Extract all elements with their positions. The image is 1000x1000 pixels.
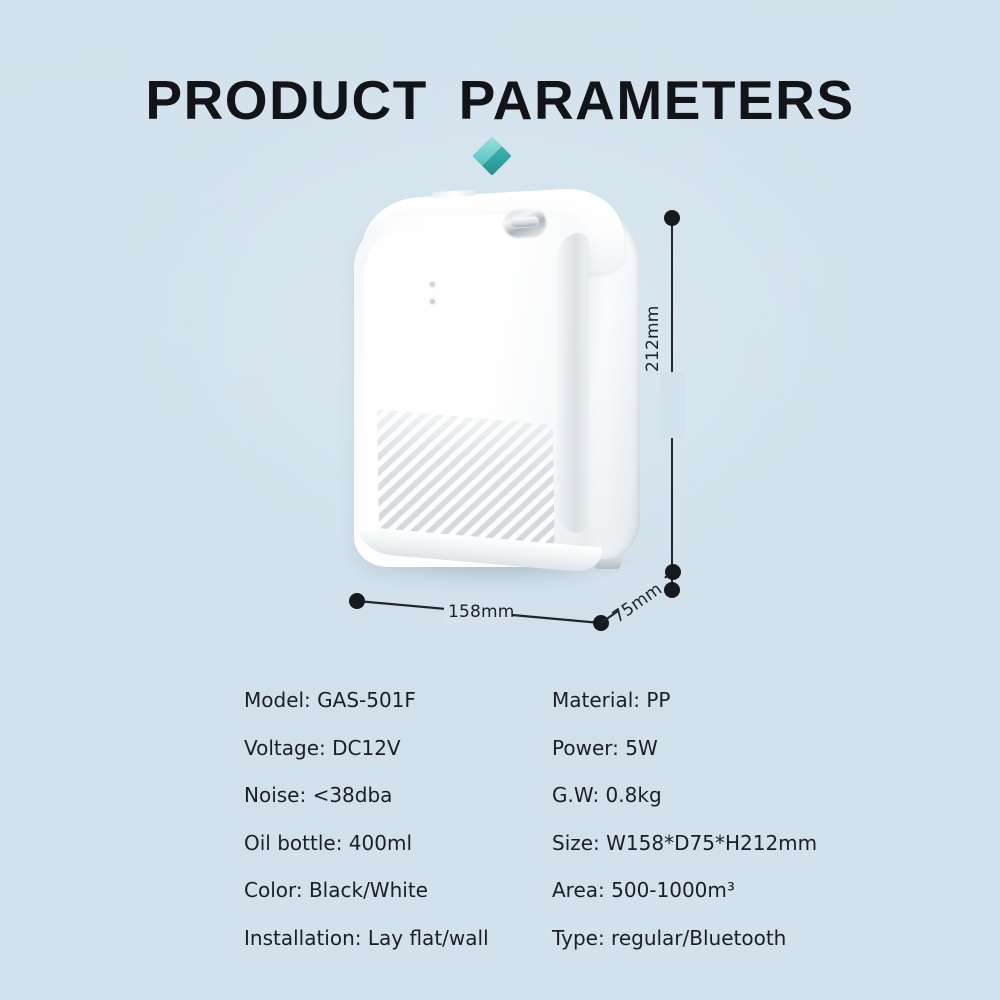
- product-front-seam: [555, 233, 589, 533]
- teal-diamond-icon: [472, 136, 512, 176]
- led-indicator-bottom: [430, 299, 435, 304]
- spec-model: Model: GAS-501F: [244, 688, 416, 712]
- spec-size: Size: W158*D75*H212mm: [552, 831, 817, 855]
- page-title: PRODUCT PARAMETERS: [0, 68, 1000, 132]
- spec-noise: Noise: <38dba: [244, 783, 392, 807]
- spec-material: Material: PP: [552, 688, 670, 712]
- spec-row: Oil bottle: 400ml Size: W158*D75*H212mm: [244, 831, 804, 879]
- spec-area: Area: 500-1000m³: [552, 878, 735, 902]
- spec-row: Installation: Lay flat/wall Type: regula…: [244, 926, 804, 974]
- spec-gross-weight: G.W: 0.8kg: [552, 783, 662, 807]
- spec-type: Type: regular/Bluetooth: [552, 926, 786, 950]
- dimension-label-height: 212mm: [643, 305, 663, 372]
- spec-color: Color: Black/White: [244, 878, 428, 902]
- spec-power: Power: 5W: [552, 736, 658, 760]
- product-parameters-page: PRODUCT PARAMETERS: [0, 0, 1000, 1000]
- spec-row: Noise: <38dba G.W: 0.8kg: [244, 783, 804, 831]
- dimension-label-width: 158mm: [448, 602, 515, 622]
- spec-voltage: Voltage: DC12V: [244, 736, 401, 760]
- spec-row: Model: GAS-501F Material: PP: [244, 688, 804, 736]
- product-image: [340, 185, 650, 605]
- specification-list: Model: GAS-501F Material: PP Voltage: DC…: [244, 688, 804, 973]
- spec-row: Color: Black/White Area: 500-1000m³: [244, 878, 804, 926]
- spec-oil-bottle: Oil bottle: 400ml: [244, 831, 412, 855]
- spec-installation: Installation: Lay flat/wall: [244, 926, 489, 950]
- led-indicator-top: [430, 282, 435, 287]
- spec-row: Voltage: DC12V Power: 5W: [244, 736, 804, 784]
